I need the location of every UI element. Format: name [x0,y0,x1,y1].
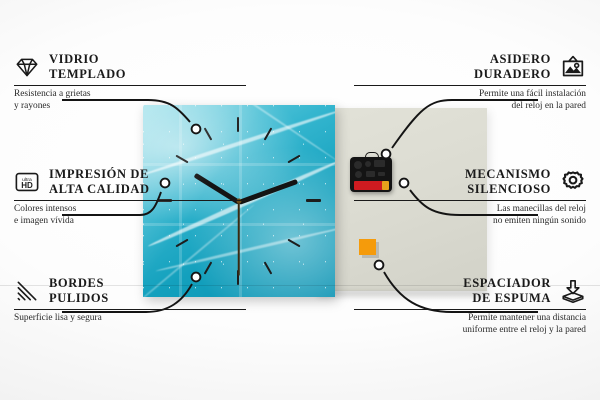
feature-desc-line2: no emiten ningún sonido [354,216,586,228]
divider [354,200,586,201]
feature-title-line1: VIDRIO [49,52,126,67]
feature-title-line1: ESPACIADOR [463,276,551,291]
feature-title-line2: PULIDOS [49,291,109,306]
feature-title-line2: SILENCIOSO [465,182,551,197]
feature-title-line2: DURADERO [474,67,551,82]
foam-spacer-arrow-icon [560,278,586,304]
feature-desc-line1: Permite mantener una distancia [354,313,586,325]
feature-desc-line1: Resistencia a grietas [14,89,246,101]
feature-title-line2: DE ESPUMA [463,291,551,306]
feature-title-line1: BORDES [49,276,109,291]
foam-spacer [359,239,376,255]
feature-mecanismo-silencioso: MECANISMO SILENCIOSO Las manecillas del … [354,167,586,227]
feature-desc-line2: uniforme entre el reloj y la pared [354,325,586,337]
feature-desc-line1: Permite una fácil instalación [354,89,586,101]
feature-impresion-alta-calidad: ultra HD IMPRESIÓN DE ALTA CALIDAD Color… [14,167,246,227]
divider [14,200,246,201]
feature-title-line1: IMPRESIÓN DE [49,167,150,182]
divider [354,309,586,310]
feature-vidrio-templado: VIDRIO TEMPLADO Resistencia a grietas y … [14,52,246,112]
feature-title-line1: MECANISMO [465,167,551,182]
feature-title-line1: ASIDERO [474,52,551,67]
feature-asidero-duradero: ASIDERO DURADERO Permite una fácil insta… [354,52,586,112]
divider [14,309,246,310]
feature-title-line2: ALTA CALIDAD [49,182,150,197]
feature-desc-line1: Superficie lisa y segura [14,313,246,325]
feature-title-line2: TEMPLADO [49,67,126,82]
feature-bordes-pulidos: BORDES PULIDOS Superficie lisa y segura [14,276,246,325]
diamond-icon [14,54,40,80]
feature-desc-line2: del reloj en la pared [354,101,586,113]
svg-text:HD: HD [21,181,33,190]
infographic-canvas: VIDRIO TEMPLADO Resistencia a grietas y … [0,0,600,400]
gear-icon [560,169,586,195]
divider [14,85,246,86]
ultra-hd-badge-icon: ultra HD [14,169,40,195]
hanging-frame-icon [560,54,586,80]
feature-espaciador-de-espuma: ESPACIADOR DE ESPUMA Permite mantener un… [354,276,586,336]
divider [354,85,586,86]
feature-desc-line2: e imagen vívida [14,216,246,228]
feature-desc-line2: y rayones [14,101,246,113]
feature-desc-line1: Las manecillas del reloj [354,204,586,216]
polished-edge-icon [14,278,40,304]
feature-desc-line1: Colores intensos [14,204,246,216]
